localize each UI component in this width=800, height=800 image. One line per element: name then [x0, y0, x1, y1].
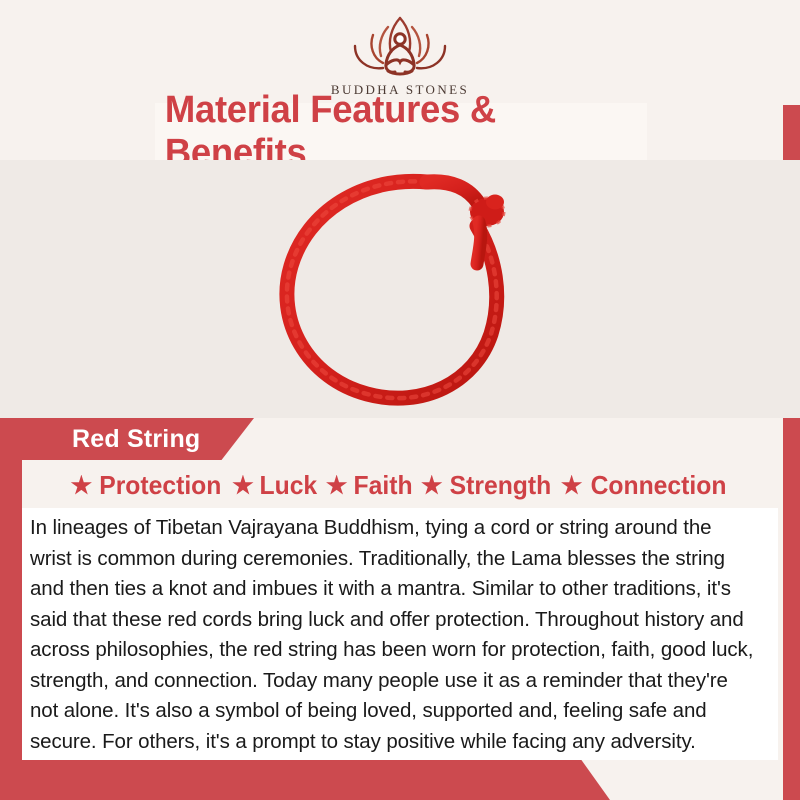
star-icon: [561, 475, 583, 497]
star-icon: [232, 475, 254, 497]
benefit-label: Luck: [259, 470, 317, 501]
benefit-item-protection: Protection: [70, 470, 225, 501]
benefit-label: Connection: [590, 470, 726, 501]
description-panel: In lineages of Tibetan Vajrayana Buddhis…: [22, 508, 778, 760]
title-banner: Material Features & Benefits: [155, 103, 647, 160]
benefit-item-luck: Luck: [232, 470, 319, 501]
lotus-meditation-icon: [325, 8, 475, 80]
benefit-item-connection: Connection: [561, 470, 730, 501]
red-string-bracelet-image: [255, 164, 545, 414]
benefit-label: Protection: [100, 470, 222, 501]
benefit-item-strength: Strength: [421, 470, 554, 501]
benefit-label: Faith: [353, 470, 412, 501]
brand-logo: BUDDHA STONES: [0, 8, 800, 98]
product-photo: [0, 160, 800, 418]
star-icon: [326, 475, 348, 497]
product-label-ribbon: Red String: [22, 418, 254, 460]
star-icon: [70, 475, 92, 497]
infographic-page: BUDDHA STONES Material Features & Benefi…: [0, 0, 800, 800]
benefits-row: Protection Luck Faith Strength Connectio…: [22, 463, 778, 508]
benefit-item-faith: Faith: [326, 470, 414, 501]
description-text: In lineages of Tibetan Vajrayana Buddhis…: [30, 513, 756, 757]
star-icon: [421, 475, 443, 497]
benefit-label: Strength: [449, 470, 551, 501]
product-label: Red String: [72, 425, 200, 454]
left-red-border-band-lower: [0, 420, 22, 780]
bottom-red-accent-band: [0, 758, 610, 800]
